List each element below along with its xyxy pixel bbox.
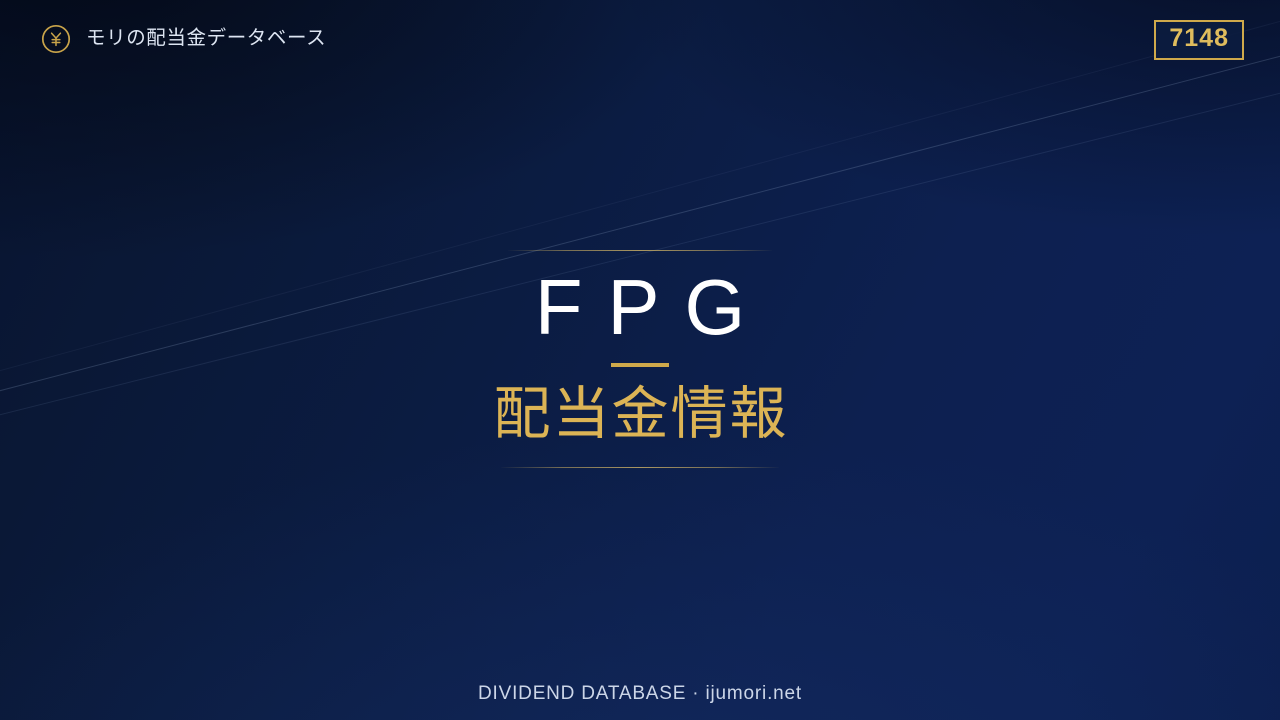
divider-top: [508, 250, 772, 251]
page-header: モリの配当金データベース 7148: [0, 0, 1280, 90]
page-footer: DIVIDEND DATABASE · ijumori.net: [0, 681, 1280, 708]
stock-code-badge[interactable]: 7148: [1154, 20, 1244, 60]
title-block: FPG 配当金情報: [0, 250, 1280, 468]
page-subtitle: 配当金情報: [492, 383, 789, 447]
accent-underline: [611, 363, 669, 367]
footer-label: DIVIDEND DATABASE · ijumori.net: [0, 681, 1280, 708]
slide-canvas: モリの配当金データベース 7148 FPG 配当金情報 DIVIDEND DAT…: [0, 0, 1280, 720]
yen-circle-icon: [40, 23, 72, 55]
ticker-symbol: FPG: [510, 267, 770, 349]
brand-title: モリの配当金データベース: [86, 29, 326, 49]
divider-bottom: [501, 467, 779, 468]
brand[interactable]: モリの配当金データベース: [40, 23, 326, 55]
